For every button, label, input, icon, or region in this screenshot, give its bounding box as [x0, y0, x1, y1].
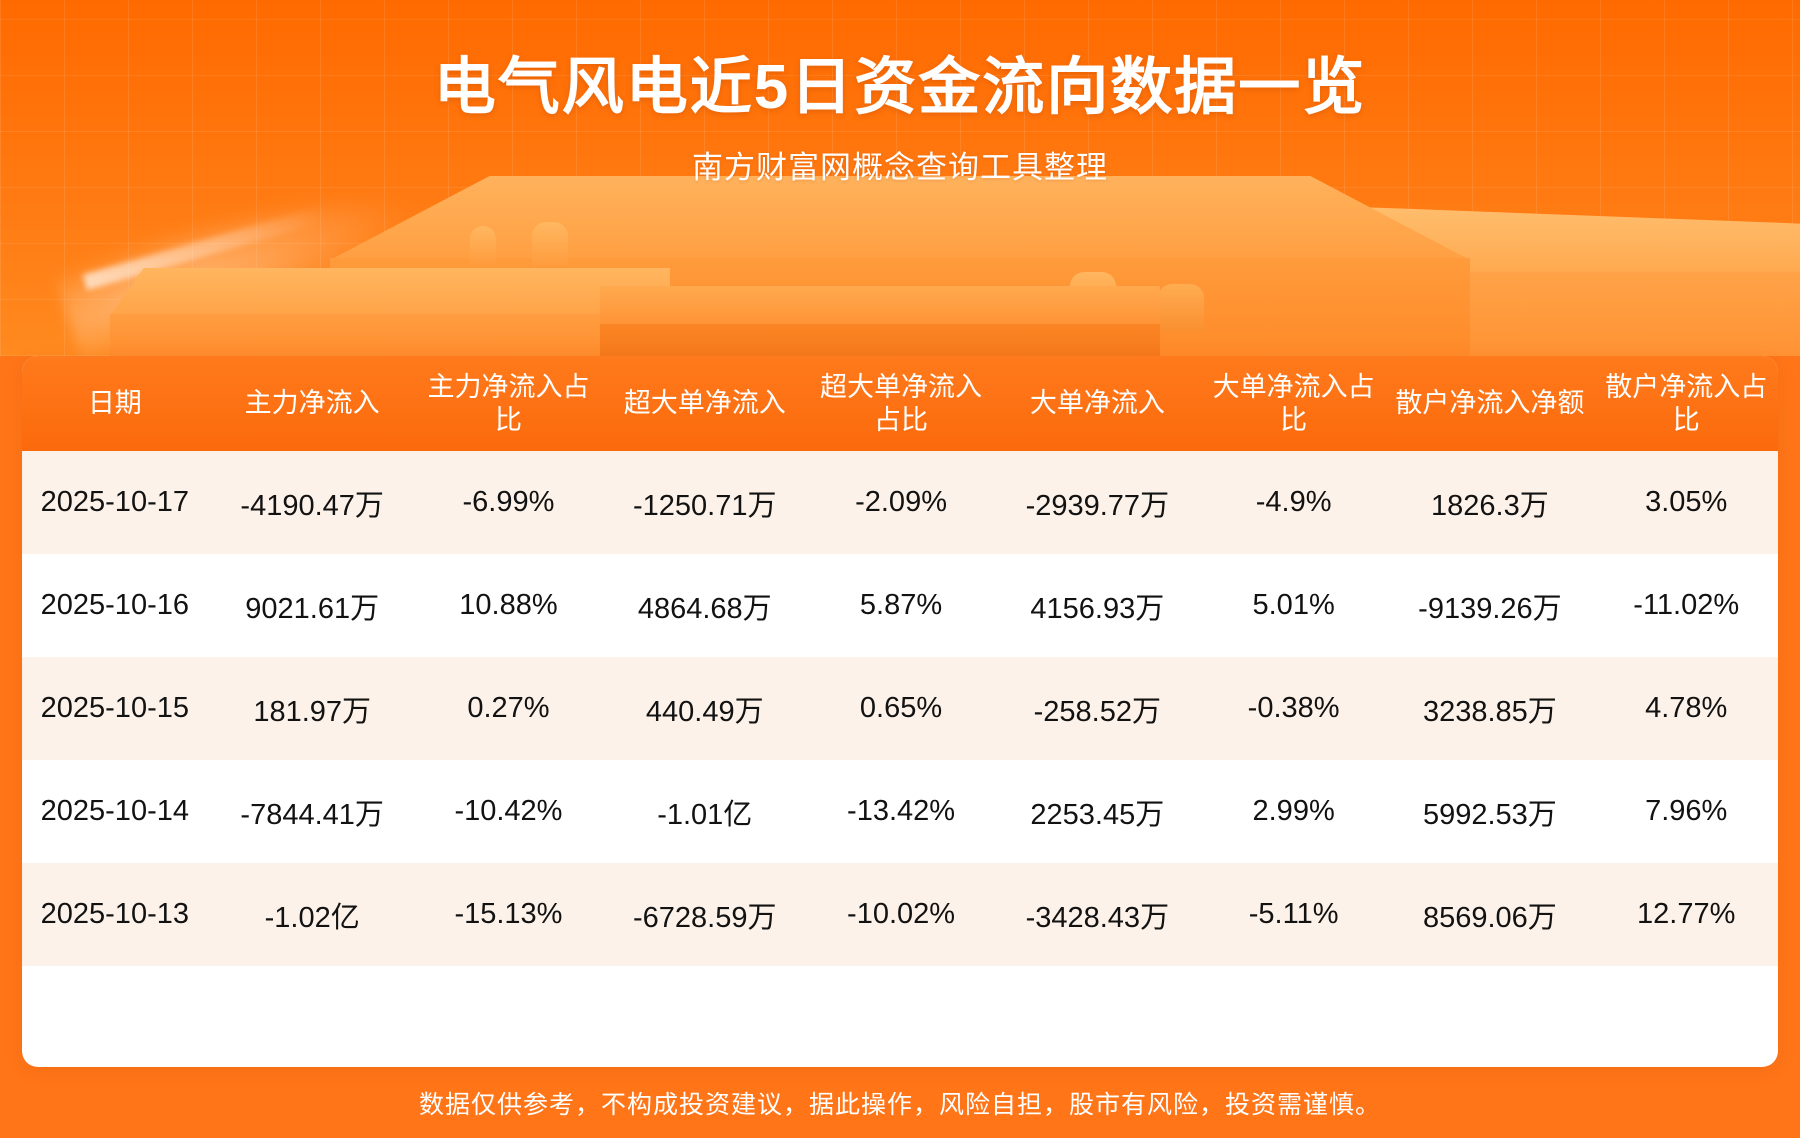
cell-xl-net-inflow-pct: -13.42%: [809, 760, 992, 863]
table-header-row: 日期 主力净流入 主力净流入占比 超大单净流入 超大单净流入占比 大单净流入 大…: [22, 356, 1778, 451]
cell-main-net-inflow: -7844.41万: [208, 760, 417, 863]
cell-lg-net-inflow: 4156.93万: [993, 554, 1202, 657]
cell-xl-net-inflow: -1250.71万: [600, 451, 809, 554]
cell-retail-net-pct: 7.96%: [1594, 760, 1778, 863]
cell-xl-net-inflow-pct: -2.09%: [809, 451, 992, 554]
table-body: 2025-10-17 -4190.47万 -6.99% -1250.71万 -2…: [22, 451, 1778, 966]
cell-xl-net-inflow-pct: 5.87%: [809, 554, 992, 657]
podium-mid-top: [600, 286, 1160, 326]
cell-lg-net-inflow-pct: -5.11%: [1202, 863, 1385, 966]
cell-retail-net-pct: 3.05%: [1594, 451, 1778, 554]
table-row[interactable]: 2025-10-17 -4190.47万 -6.99% -1250.71万 -2…: [22, 451, 1778, 554]
cell-lg-net-inflow-pct: -0.38%: [1202, 657, 1385, 760]
cell-retail-net-pct: 4.78%: [1594, 657, 1778, 760]
cell-date: 2025-10-15: [22, 657, 208, 760]
cell-lg-net-inflow-pct: 5.01%: [1202, 554, 1385, 657]
cell-retail-net-amount: 8569.06万: [1385, 863, 1594, 966]
column-header-retail-net-amount[interactable]: 散户净流入净额: [1385, 356, 1594, 451]
table-header: 日期 主力净流入 主力净流入占比 超大单净流入 超大单净流入占比 大单净流入 大…: [22, 356, 1778, 451]
cell-retail-net-amount: -9139.26万: [1385, 554, 1594, 657]
cell-retail-net-pct: -11.02%: [1594, 554, 1778, 657]
column-header-main-net-inflow-pct[interactable]: 主力净流入占比: [417, 356, 600, 451]
cell-main-net-inflow-pct: 0.27%: [417, 657, 600, 760]
cell-date: 2025-10-16: [22, 554, 208, 657]
table-row[interactable]: 2025-10-13 -1.02亿 -15.13% -6728.59万 -10.…: [22, 863, 1778, 966]
column-header-date[interactable]: 日期: [22, 356, 208, 451]
page-subtitle: 南方财富网概念查询工具整理: [0, 142, 1800, 187]
podium-nub-medium: [532, 222, 568, 266]
cell-xl-net-inflow: 4864.68万: [600, 554, 809, 657]
podium-center-top: [330, 176, 1470, 260]
cell-xl-net-inflow: 440.49万: [600, 657, 809, 760]
cell-retail-net-pct: 12.77%: [1594, 863, 1778, 966]
cell-lg-net-inflow: -2939.77万: [993, 451, 1202, 554]
cell-lg-net-inflow-pct: 2.99%: [1202, 760, 1385, 863]
cell-lg-net-inflow: 2253.45万: [993, 760, 1202, 863]
podium-left-top: [110, 268, 670, 316]
cell-main-net-inflow: 181.97万: [208, 657, 417, 760]
page-root: 电气风电近5日资金流向数据一览 南方财富网概念查询工具整理 南方财富网 Sout…: [0, 0, 1800, 1138]
column-header-retail-net-pct[interactable]: 散户净流入占比: [1594, 356, 1778, 451]
column-header-main-net-inflow[interactable]: 主力净流入: [208, 356, 417, 451]
cell-retail-net-amount: 3238.85万: [1385, 657, 1594, 760]
cell-main-net-inflow: -1.02亿: [208, 863, 417, 966]
column-header-xl-net-inflow-pct[interactable]: 超大单净流入占比: [809, 356, 992, 451]
cell-main-net-inflow: -4190.47万: [208, 451, 417, 554]
podium-mid-front: [600, 324, 1160, 356]
cell-main-net-inflow: 9021.61万: [208, 554, 417, 657]
cell-xl-net-inflow: -1.01亿: [600, 760, 809, 863]
cell-xl-net-inflow-pct: 0.65%: [809, 657, 992, 760]
podium-nub-right: [1158, 284, 1204, 332]
cell-date: 2025-10-14: [22, 760, 208, 863]
cell-lg-net-inflow: -3428.43万: [993, 863, 1202, 966]
podium-left-front: [110, 314, 670, 356]
cell-lg-net-inflow: -258.52万: [993, 657, 1202, 760]
cell-xl-net-inflow-pct: -10.02%: [809, 863, 992, 966]
column-header-lg-net-inflow-pct[interactable]: 大单净流入占比: [1202, 356, 1385, 451]
disclaimer-text: 数据仅供参考，不构成投资建议，据此操作，风险自担，股市有风险，投资需谨慎。: [419, 1085, 1381, 1121]
cell-main-net-inflow-pct: -10.42%: [417, 760, 600, 863]
cell-main-net-inflow-pct: 10.88%: [417, 554, 600, 657]
column-header-lg-net-inflow[interactable]: 大单净流入: [993, 356, 1202, 451]
table-row[interactable]: 2025-10-16 9021.61万 10.88% 4864.68万 5.87…: [22, 554, 1778, 657]
cell-lg-net-inflow-pct: -4.9%: [1202, 451, 1385, 554]
footer-disclaimer-bar: 数据仅供参考，不构成投资建议，据此操作，风险自担，股市有风险，投资需谨慎。: [0, 1067, 1800, 1138]
cell-main-net-inflow-pct: -15.13%: [417, 863, 600, 966]
cell-xl-net-inflow: -6728.59万: [600, 863, 809, 966]
cell-retail-net-amount: 1826.3万: [1385, 451, 1594, 554]
cell-retail-net-amount: 5992.53万: [1385, 760, 1594, 863]
cell-date: 2025-10-17: [22, 451, 208, 554]
column-header-xl-net-inflow[interactable]: 超大单净流入: [600, 356, 809, 451]
fund-flow-table: 日期 主力净流入 主力净流入占比 超大单净流入 超大单净流入占比 大单净流入 大…: [22, 356, 1778, 966]
banner: 电气风电近5日资金流向数据一览 南方财富网概念查询工具整理: [0, 0, 1800, 356]
page-title: 电气风电近5日资金流向数据一览: [0, 36, 1800, 126]
table-row[interactable]: 2025-10-14 -7844.41万 -10.42% -1.01亿 -13.…: [22, 760, 1778, 863]
table-row[interactable]: 2025-10-15 181.97万 0.27% 440.49万 0.65% -…: [22, 657, 1778, 760]
podium-nub-small: [470, 226, 496, 264]
cell-date: 2025-10-13: [22, 863, 208, 966]
cell-main-net-inflow-pct: -6.99%: [417, 451, 600, 554]
data-table-card: 南方财富网 Southmoney.com 日期 主力净流入 主力净流入占比 超大…: [22, 356, 1778, 1067]
banner-podium-illustration: [0, 176, 1800, 356]
